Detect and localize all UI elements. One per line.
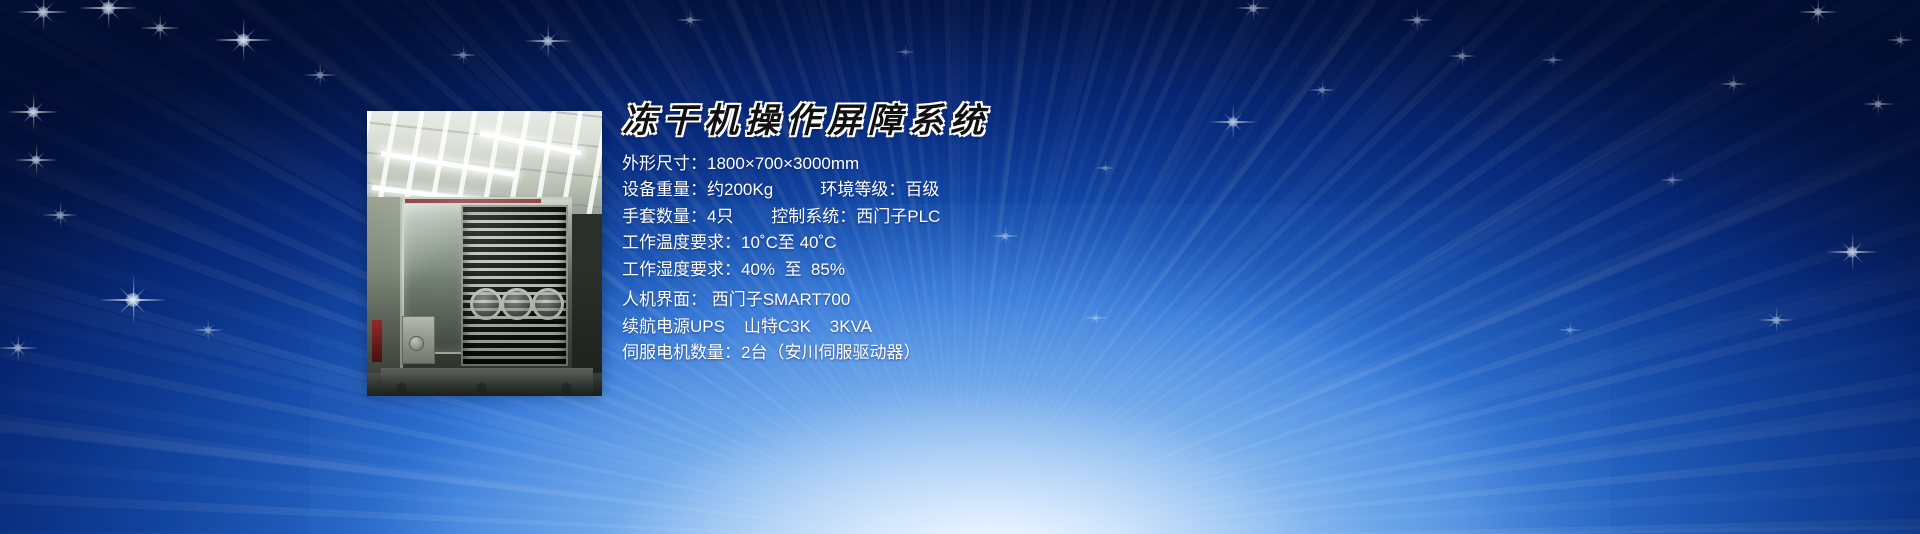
spec-line-7: 续航电源UPS 山特C3K 3KVA xyxy=(622,314,1322,341)
product-photo xyxy=(367,111,602,396)
spec-line-3: 手套数量：4只 控制系统：西门子PLC xyxy=(622,204,1322,231)
spec-line-5: 工作湿度要求：40% 至 85% xyxy=(622,257,1322,284)
photo-lighting-overlay xyxy=(367,111,602,396)
page-title: 冻干机操作屏障系统 xyxy=(622,104,1322,140)
spec-line-4: 工作温度要求：10˚C至 40˚C xyxy=(622,230,1322,257)
spec-line-2: 设备重量：约200Kg 环境等级：百级 xyxy=(622,177,1322,204)
spec-line-6: 人机界面： 西门子SMART700 xyxy=(622,287,1322,314)
product-banner: 冻干机操作屏障系统 外形尺寸：1800×700×3000mm 设备重量：约200… xyxy=(0,0,1920,534)
spec-line-8: 伺服电机数量：2台（安川伺服驱动器） xyxy=(622,340,1322,367)
text-block: 冻干机操作屏障系统 外形尺寸：1800×700×3000mm 设备重量：约200… xyxy=(622,104,1322,367)
spec-line-1: 外形尺寸：1800×700×3000mm xyxy=(622,151,1322,178)
